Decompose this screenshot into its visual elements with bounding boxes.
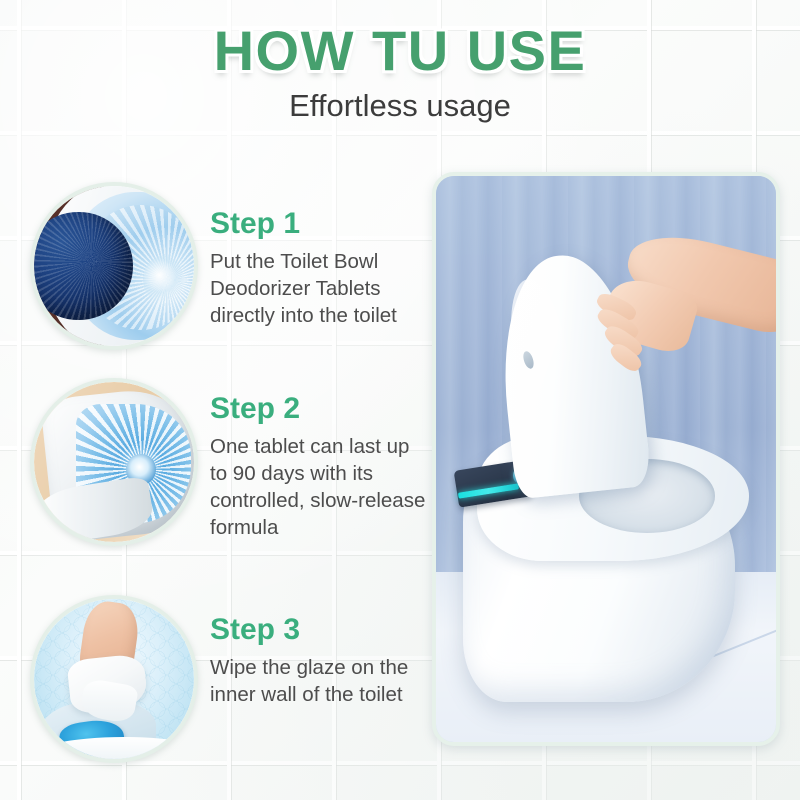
step-description: One tablet can last up to 90 days with i… <box>210 433 428 541</box>
list-item: Step 2 One tablet can last up to 90 days… <box>0 370 430 575</box>
list-item: Step 1 Put the Toilet Bowl Deodorizer Ta… <box>0 175 430 370</box>
header: HOW TU USE Effortless usage <box>0 22 800 123</box>
step-description: Put the Toilet Bowl Deodorizer Tablets d… <box>210 248 428 329</box>
infographic-page: HOW TU USE Effortless usage Step 1 Put t… <box>0 0 800 800</box>
hand-wiping-toilet-glaze-thumbnail <box>30 595 198 763</box>
page-subtitle: Effortless usage <box>0 89 800 123</box>
smart-toilet-open-lid-photo <box>432 172 780 746</box>
steps-list: Step 1 Put the Toilet Bowl Deodorizer Ta… <box>0 175 430 750</box>
step-label: Step 3 <box>210 613 428 648</box>
list-item: Step 3 Wipe the glaze on the inner wall … <box>0 575 430 750</box>
step-description: Wipe the glaze on the inner wall of the … <box>210 654 428 708</box>
toilet-bowl-water-vortex-thumbnail <box>30 378 198 546</box>
page-title: HOW TU USE <box>0 22 800 81</box>
toilet-bowl-tablet-drop-thumbnail <box>30 182 198 350</box>
step-label: Step 2 <box>210 392 428 427</box>
step-label: Step 1 <box>210 207 428 242</box>
step-text-block: Step 1 Put the Toilet Bowl Deodorizer Ta… <box>210 207 428 329</box>
step-text-block: Step 2 One tablet can last up to 90 days… <box>210 392 428 541</box>
step-text-block: Step 3 Wipe the glaze on the inner wall … <box>210 613 428 708</box>
